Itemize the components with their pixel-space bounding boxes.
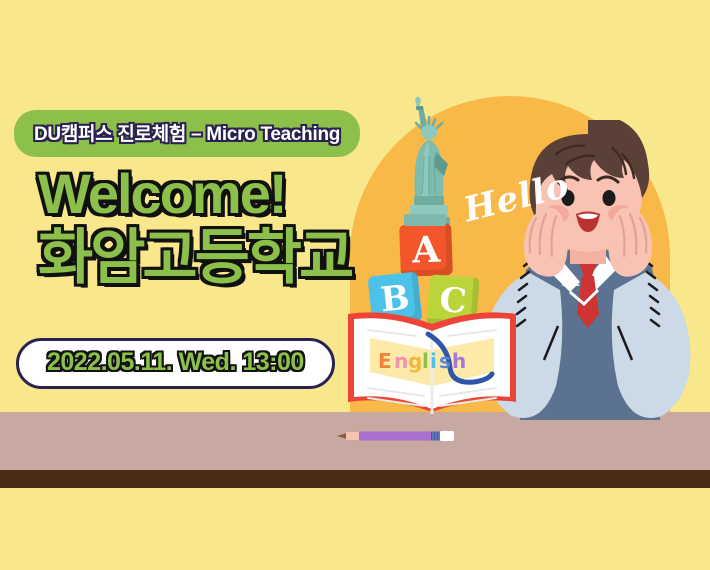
page-title: Welcome! 화암고등학교 <box>38 166 351 288</box>
statue-pedestal <box>404 214 446 226</box>
book-letter: n <box>394 349 408 373</box>
statue-of-liberty-icon <box>396 86 462 226</box>
book-letter: h <box>452 349 466 373</box>
book-letter: l <box>422 349 429 373</box>
date-badge: 2022.05.11. Wed. 13:00 <box>16 338 335 389</box>
book-letter: E <box>378 349 392 373</box>
event-tag-badge: DU캠퍼스 진로체험 – Micro Teaching <box>14 110 360 157</box>
alphabet-block-a: A <box>399 223 453 277</box>
poster-canvas: A B C <box>0 0 710 570</box>
block-letter: A <box>411 229 440 272</box>
pencil-icon <box>337 428 459 444</box>
book-letter: s <box>439 349 451 373</box>
event-tag-label: DU캠퍼스 진로체험 – Micro Teaching <box>34 119 340 146</box>
headline-school-name: 화암고등학교 <box>38 228 351 288</box>
date-badge-label: 2022.05.11. Wed. 13:00 <box>47 348 304 377</box>
book-letter: g <box>408 349 422 373</box>
desk-lower-background <box>0 488 710 570</box>
book-letter: i <box>430 349 437 373</box>
desk-edge <box>0 470 710 488</box>
open-book-icon: E n g l i s h <box>344 310 520 418</box>
headline-welcome: Welcome! <box>38 166 351 222</box>
